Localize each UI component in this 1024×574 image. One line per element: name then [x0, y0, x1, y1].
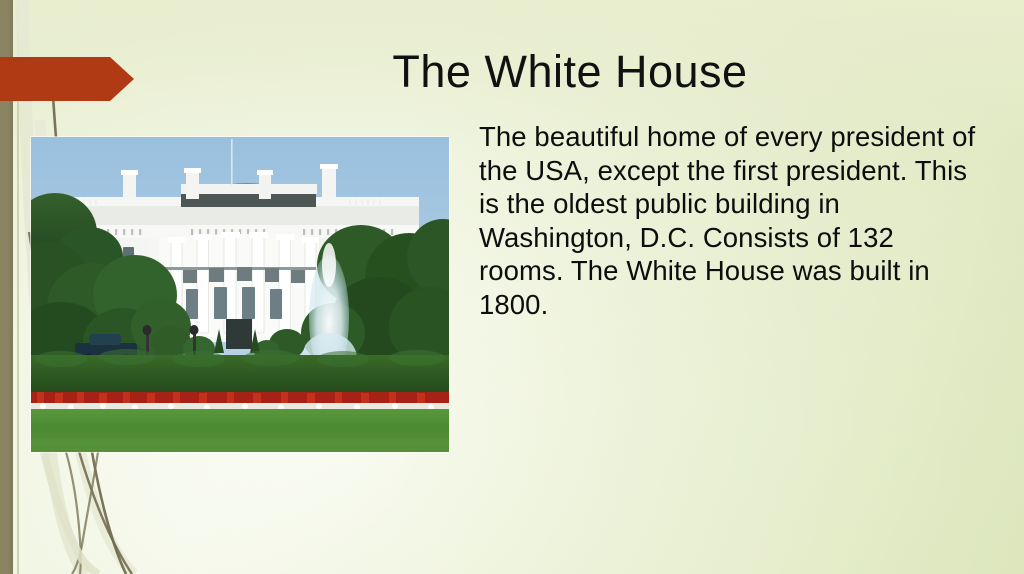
- red-arrow-banner: [0, 57, 134, 101]
- page-title: The White House: [150, 44, 990, 100]
- white-house-photo: [31, 137, 449, 452]
- slide-body-text: The beautiful home of every president of…: [479, 120, 979, 321]
- white-house-photo-image: [31, 137, 449, 452]
- presentation-slide: The White House: [0, 0, 1024, 574]
